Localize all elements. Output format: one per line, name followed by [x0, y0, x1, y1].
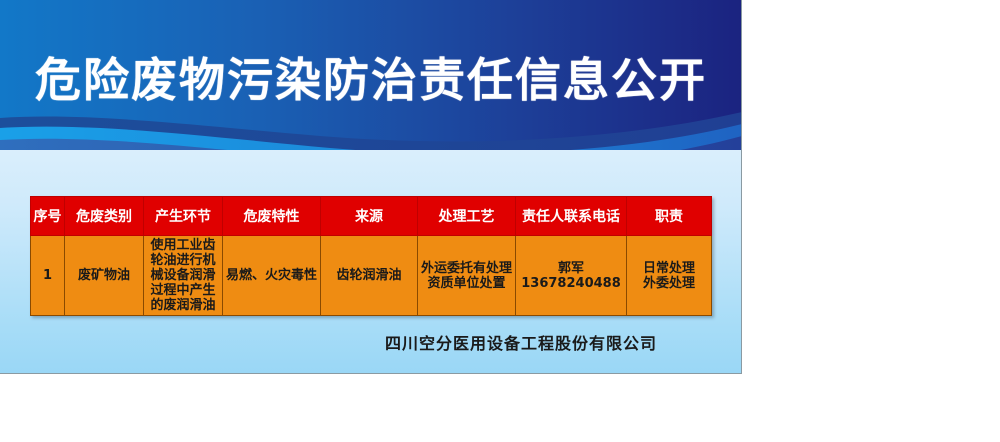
duty-line-1: 日常处理	[628, 261, 710, 276]
column-header-index: 序号	[31, 197, 65, 236]
column-header-source: 来源	[321, 197, 418, 236]
contact-person-name: 郭军	[517, 261, 625, 276]
cell-process: 使用工业齿轮油进行机械设备润滑过程中产生的废润滑油	[144, 236, 223, 316]
column-header-category: 危废类别	[65, 197, 144, 236]
cell-duty: 日常处理 外委处理	[627, 236, 712, 316]
company-name: 四川空分医用设备工程股份有限公司	[330, 330, 712, 354]
column-header-craft: 处理工艺	[418, 197, 516, 236]
table-header-row: 序号 危废类别 产生环节 危废特性 来源 处理工艺 责任人联系电话 职责	[31, 197, 712, 236]
hazardous-waste-table: 序号 危废类别 产生环节 危废特性 来源 处理工艺 责任人联系电话 职责 1 废…	[30, 196, 712, 316]
column-header-process: 产生环节	[144, 197, 223, 236]
contact-person-phone: 13678240488	[517, 276, 625, 291]
column-header-duty: 职责	[627, 197, 712, 236]
column-header-contact: 责任人联系电话	[516, 197, 627, 236]
information-disclosure-poster: 危险废物污染防治责任信息公开 序号 危废类别 产生环节 危废特性 来源 处理工艺…	[0, 0, 742, 374]
cell-source: 齿轮润滑油	[321, 236, 418, 316]
cell-feature: 易燃、火灾毒性	[223, 236, 321, 316]
table-row: 1 废矿物油 使用工业齿轮油进行机械设备润滑过程中产生的废润滑油 易燃、火灾毒性…	[31, 236, 712, 316]
column-header-feature: 危废特性	[223, 197, 321, 236]
duty-line-2: 外委处理	[628, 276, 710, 291]
cell-index: 1	[31, 236, 65, 316]
cell-craft: 外运委托有处理资质单位处置	[418, 236, 516, 316]
cell-category: 废矿物油	[65, 236, 144, 316]
cell-contact: 郭军 13678240488	[516, 236, 627, 316]
page-title: 危险废物污染防治责任信息公开	[0, 52, 742, 108]
